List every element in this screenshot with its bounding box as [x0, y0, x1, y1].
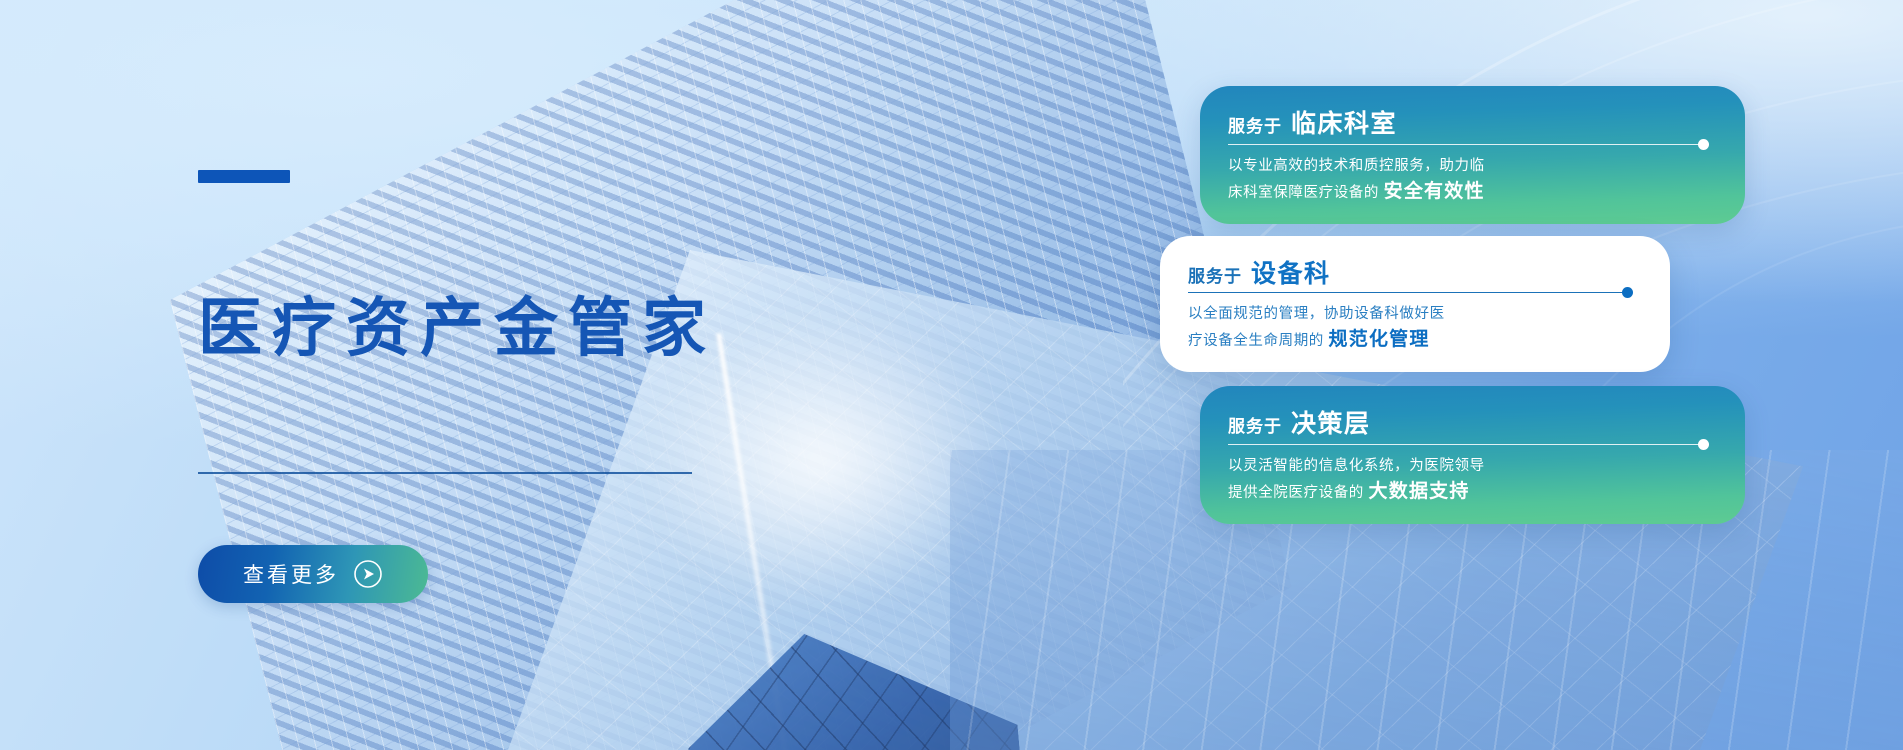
progress-dot: [1622, 287, 1633, 298]
card-heading-prefix: 服务于: [1228, 412, 1282, 437]
card-description: 以全面规范的管理，协助设备科做好医 疗设备全生命周期的 规范化管理: [1188, 302, 1445, 354]
hero-left-column: 医疗资产金管家 查看更多: [198, 0, 818, 750]
card-description-lead: 提供全院医疗设备的: [1228, 485, 1364, 501]
card-progress-track: [1228, 444, 1704, 445]
card-description-lead: 疗设备全生命周期的: [1188, 333, 1324, 349]
card-description-line2: 提供全院医疗设备的 大数据支持: [1228, 479, 1485, 506]
divider-line: [198, 472, 692, 474]
page-title: 医疗资产金管家: [198, 296, 716, 360]
service-card-clinical-department[interactable]: 服务于 临床科室 以专业高效的技术和质控服务，助力临 床科室保障医疗设备的 安全…: [1200, 86, 1745, 224]
card-description-highlight: 规范化管理: [1329, 329, 1430, 350]
card-progress-track: [1228, 144, 1704, 145]
card-description-highlight: 大数据支持: [1369, 481, 1470, 502]
service-card-equipment-department[interactable]: 服务于 设备科 以全面规范的管理，协助设备科做好医 疗设备全生命周期的 规范化管…: [1160, 236, 1670, 372]
circle-arrow-right-icon: [353, 559, 383, 589]
card-heading-main: 决策层: [1291, 404, 1371, 440]
card-heading-main: 设备科: [1251, 254, 1331, 290]
card-description-highlight: 安全有效性: [1384, 181, 1485, 202]
card-description-lead: 床科室保障医疗设备的: [1228, 185, 1379, 201]
card-description: 以专业高效的技术和质控服务，助力临 床科室保障医疗设备的 安全有效性: [1228, 154, 1485, 206]
card-heading-prefix: 服务于: [1228, 112, 1282, 137]
card-heading-main: 临床科室: [1291, 104, 1397, 140]
card-description: 以灵活智能的信息化系统，为医院领导 提供全院医疗设备的 大数据支持: [1228, 454, 1485, 506]
view-more-label: 查看更多: [243, 559, 339, 589]
card-heading: 服务于 设备科: [1188, 254, 1331, 290]
card-description-line1: 以全面规范的管理，协助设备科做好医: [1188, 302, 1445, 327]
card-description-line1: 以灵活智能的信息化系统，为医院领导: [1228, 454, 1485, 479]
card-heading-prefix: 服务于: [1188, 262, 1242, 287]
card-description-line1: 以专业高效的技术和质控服务，助力临: [1228, 154, 1485, 179]
service-card-decision-layer[interactable]: 服务于 决策层 以灵活智能的信息化系统，为医院领导 提供全院医疗设备的 大数据支…: [1200, 386, 1745, 524]
accent-dash: [198, 170, 290, 183]
card-progress-track: [1188, 292, 1628, 293]
progress-dot: [1698, 139, 1709, 150]
view-more-button[interactable]: 查看更多: [198, 545, 428, 603]
card-description-line2: 床科室保障医疗设备的 安全有效性: [1228, 179, 1485, 206]
hero-banner: 医疗资产金管家 查看更多 服务于 临床科室 以专业高效的技术和质控服务，助力临 …: [0, 0, 1903, 750]
card-heading: 服务于 决策层: [1228, 404, 1371, 440]
card-description-line2: 疗设备全生命周期的 规范化管理: [1188, 327, 1445, 354]
progress-dot: [1698, 439, 1709, 450]
card-heading: 服务于 临床科室: [1228, 104, 1397, 140]
